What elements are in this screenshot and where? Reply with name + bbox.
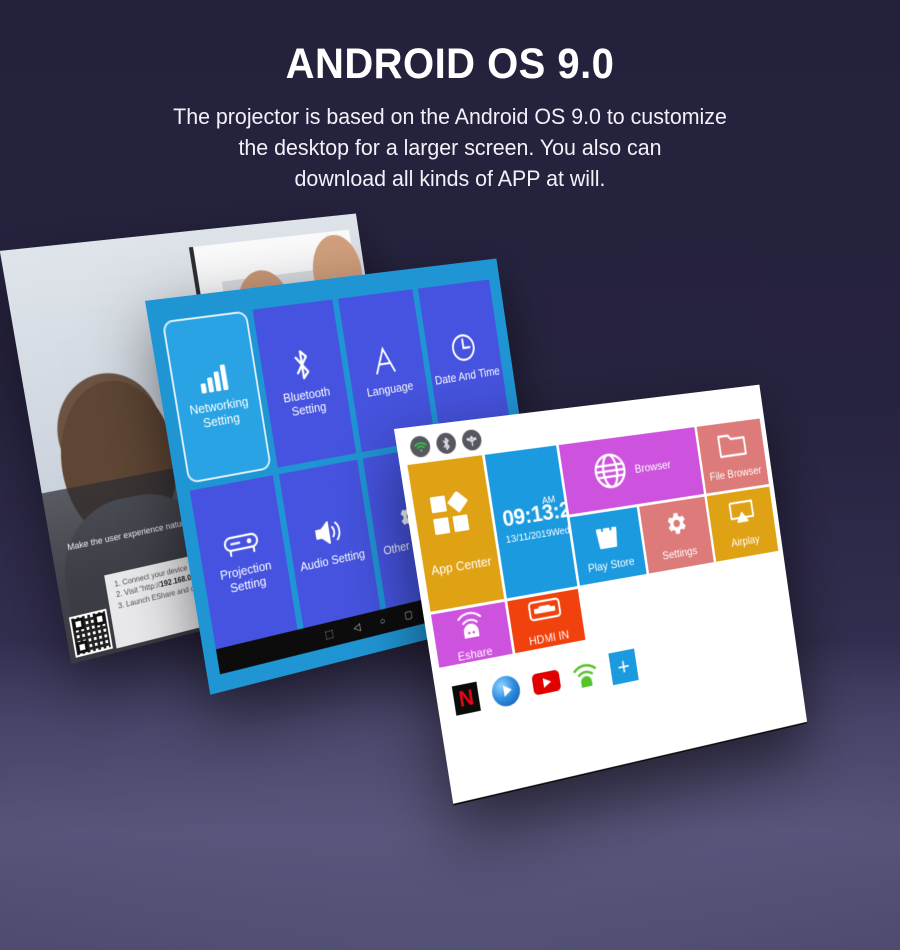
header: ANDROID OS 9.0 The projector is based on… bbox=[0, 0, 900, 194]
page-title: ANDROID OS 9.0 bbox=[32, 42, 869, 87]
tile-label: Browser bbox=[634, 458, 672, 476]
clock-ampm: AM bbox=[541, 495, 556, 507]
tile-label: NetworkingSetting bbox=[188, 394, 251, 433]
tile-label: App Center bbox=[430, 554, 492, 578]
android-wifi-icon[interactable] bbox=[571, 658, 601, 691]
subtitle-line-1: The projector is based on the Android OS… bbox=[23, 101, 878, 132]
airplay-icon bbox=[727, 498, 756, 532]
plus-icon[interactable]: + bbox=[608, 649, 638, 686]
tile-label: File Browser bbox=[709, 463, 762, 483]
subtitle-line-3: download all kinds of APP at will. bbox=[23, 163, 878, 194]
tile-date-and-time[interactable]: Date And Time bbox=[418, 279, 510, 437]
wifi-icon[interactable] bbox=[409, 435, 432, 458]
subtitle-line-2: the desktop for a larger screen. You als… bbox=[23, 132, 878, 163]
tile-label: Date And Time bbox=[434, 364, 501, 388]
tile-label: Play Store bbox=[587, 554, 635, 575]
tiles-icon bbox=[429, 490, 479, 544]
media-player-icon[interactable] bbox=[490, 673, 522, 708]
tile-play-store[interactable]: Play Store bbox=[569, 507, 647, 586]
projector-icon bbox=[222, 527, 262, 559]
tile-file-browser[interactable]: File Browser bbox=[697, 418, 769, 493]
clock-icon bbox=[449, 331, 478, 364]
recents-icon[interactable]: ▢ bbox=[404, 609, 414, 621]
signal-bars-icon bbox=[197, 362, 232, 394]
tile-label: Settings bbox=[661, 543, 698, 562]
screenshot-icon[interactable]: ⬚ bbox=[324, 628, 334, 640]
tile-label: Bluetooth Setting bbox=[266, 382, 349, 423]
tile-label: Language bbox=[366, 378, 414, 399]
tile-label: Audio Setting bbox=[299, 546, 366, 574]
speaker-icon bbox=[312, 516, 345, 550]
bluetooth-icon[interactable] bbox=[435, 432, 458, 455]
usb-icon[interactable] bbox=[461, 429, 483, 452]
gear-icon bbox=[661, 508, 690, 544]
tile-projection-setting[interactable]: Projection Setting bbox=[190, 475, 298, 649]
eshare-android-icon bbox=[453, 605, 489, 645]
tile-networking-setting[interactable]: NetworkingSetting bbox=[162, 311, 272, 484]
tile-settings[interactable]: Settings bbox=[639, 496, 714, 573]
tile-label: Projection Setting bbox=[203, 554, 290, 601]
back-icon[interactable]: ◁ bbox=[353, 622, 362, 634]
page-subtitle: The projector is based on the Android OS… bbox=[23, 101, 878, 194]
folder-icon bbox=[716, 429, 748, 465]
tile-bluetooth-setting[interactable]: Bluetooth Setting bbox=[252, 300, 355, 467]
tile-airplay[interactable]: Airplay bbox=[707, 486, 779, 561]
tile-audio-setting[interactable]: Audio Setting bbox=[279, 459, 380, 628]
tile-label: Airplay bbox=[730, 532, 760, 549]
netflix-icon[interactable]: N bbox=[452, 682, 481, 716]
youtube-icon[interactable] bbox=[531, 669, 561, 695]
globe-icon bbox=[591, 450, 631, 497]
bluetooth-icon bbox=[289, 347, 315, 382]
home-icon[interactable]: ○ bbox=[379, 616, 386, 627]
qr-code-icon bbox=[69, 608, 113, 657]
hdmi-port-icon bbox=[526, 594, 564, 630]
letter-a-icon bbox=[370, 342, 402, 378]
shopping-bag-icon bbox=[593, 519, 621, 556]
